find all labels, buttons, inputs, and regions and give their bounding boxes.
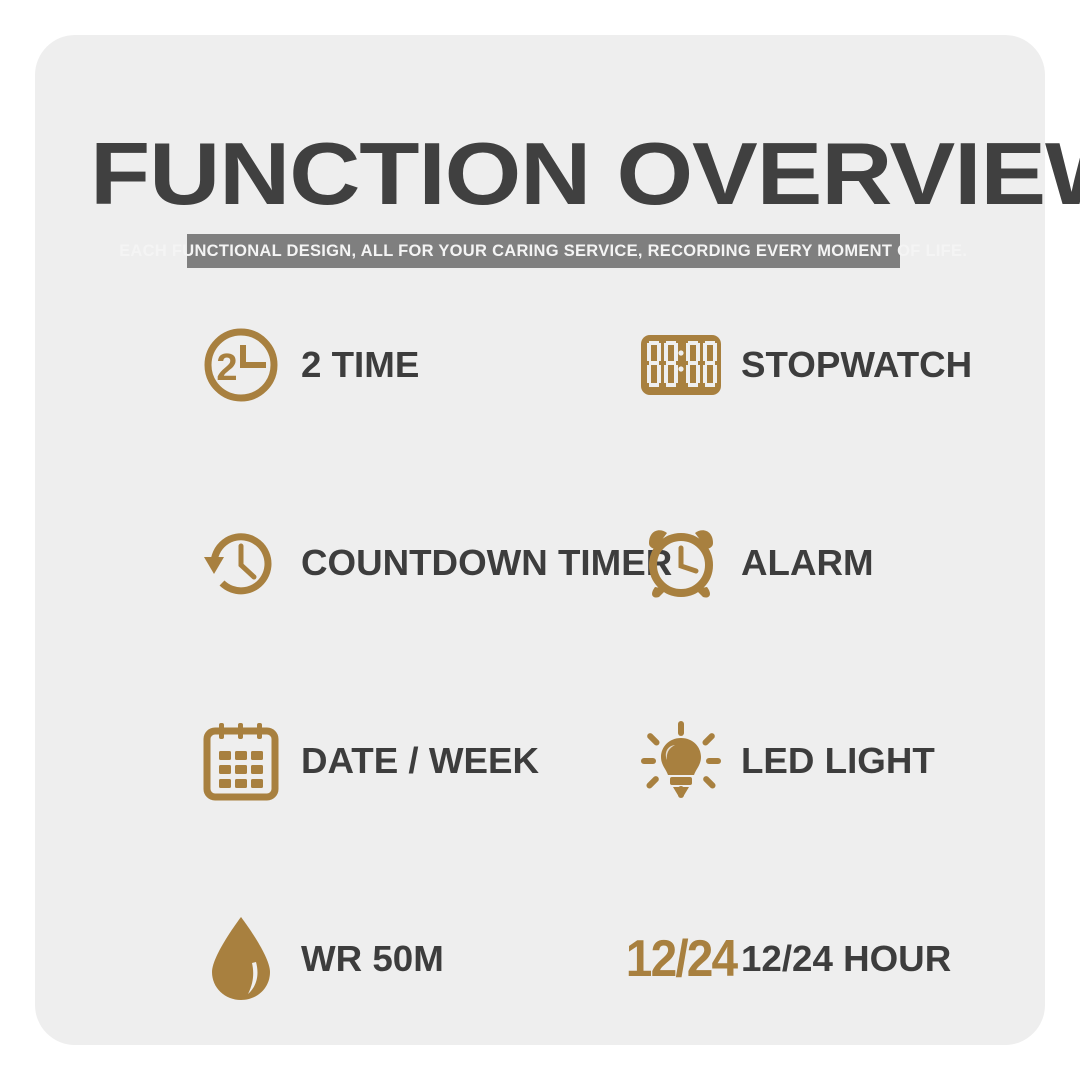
feature-label: ALARM: [741, 545, 874, 581]
feature-item-12-24-hour: 12/24 12/24 HOUR: [635, 904, 947, 1014]
stopwatch-digital-display-icon: [635, 319, 727, 411]
feature-item-water-resistance: WR 50M: [195, 904, 441, 1014]
calendar-icon: [195, 715, 287, 807]
subtitle-banner: EACH FUNCTIONAL DESIGN, ALL FOR YOUR CAR…: [187, 234, 900, 268]
page-title: FUNCTION OVERVIEW: [90, 130, 1080, 218]
feature-label: DATE / WEEK: [301, 743, 539, 779]
feature-item-alarm: ALARM: [635, 508, 871, 618]
feature-label: STOPWATCH: [741, 347, 972, 383]
countdown-timer-icon: [195, 517, 287, 609]
svg-text:2: 2: [216, 347, 237, 389]
feature-item-date-week: DATE / WEEK: [195, 706, 534, 816]
subtitle-text: EACH FUNCTIONAL DESIGN, ALL FOR YOUR CAR…: [119, 241, 967, 261]
feature-label: 12/24 HOUR: [741, 941, 951, 977]
two-time-clock-icon: 2: [195, 319, 287, 411]
feature-item-countdown-timer: COUNTDOWN TIMER: [195, 508, 665, 618]
feature-label: 2 TIME: [301, 347, 419, 383]
twelve-twentyfour-text-icon: 12/24: [635, 913, 727, 1005]
water-drop-icon: [195, 913, 287, 1005]
function-overview-card: FUNCTION OVERVIEW EACH FUNCTIONAL DESIGN…: [35, 35, 1045, 1045]
feature-grid: 2 2 TIME: [35, 300, 1045, 1020]
alarm-clock-icon: [635, 517, 727, 609]
feature-label: WR 50M: [301, 941, 444, 977]
lightbulb-icon: [635, 715, 727, 807]
feature-item-2-time: 2 2 TIME: [195, 310, 417, 420]
feature-item-led-light: LED LIGHT: [635, 706, 931, 816]
feature-item-stopwatch: STOPWATCH: [635, 310, 968, 420]
feature-label: COUNTDOWN TIMER: [301, 545, 672, 581]
feature-label: LED LIGHT: [741, 743, 935, 779]
twelve-twentyfour-glyph: 12/24: [626, 933, 737, 985]
